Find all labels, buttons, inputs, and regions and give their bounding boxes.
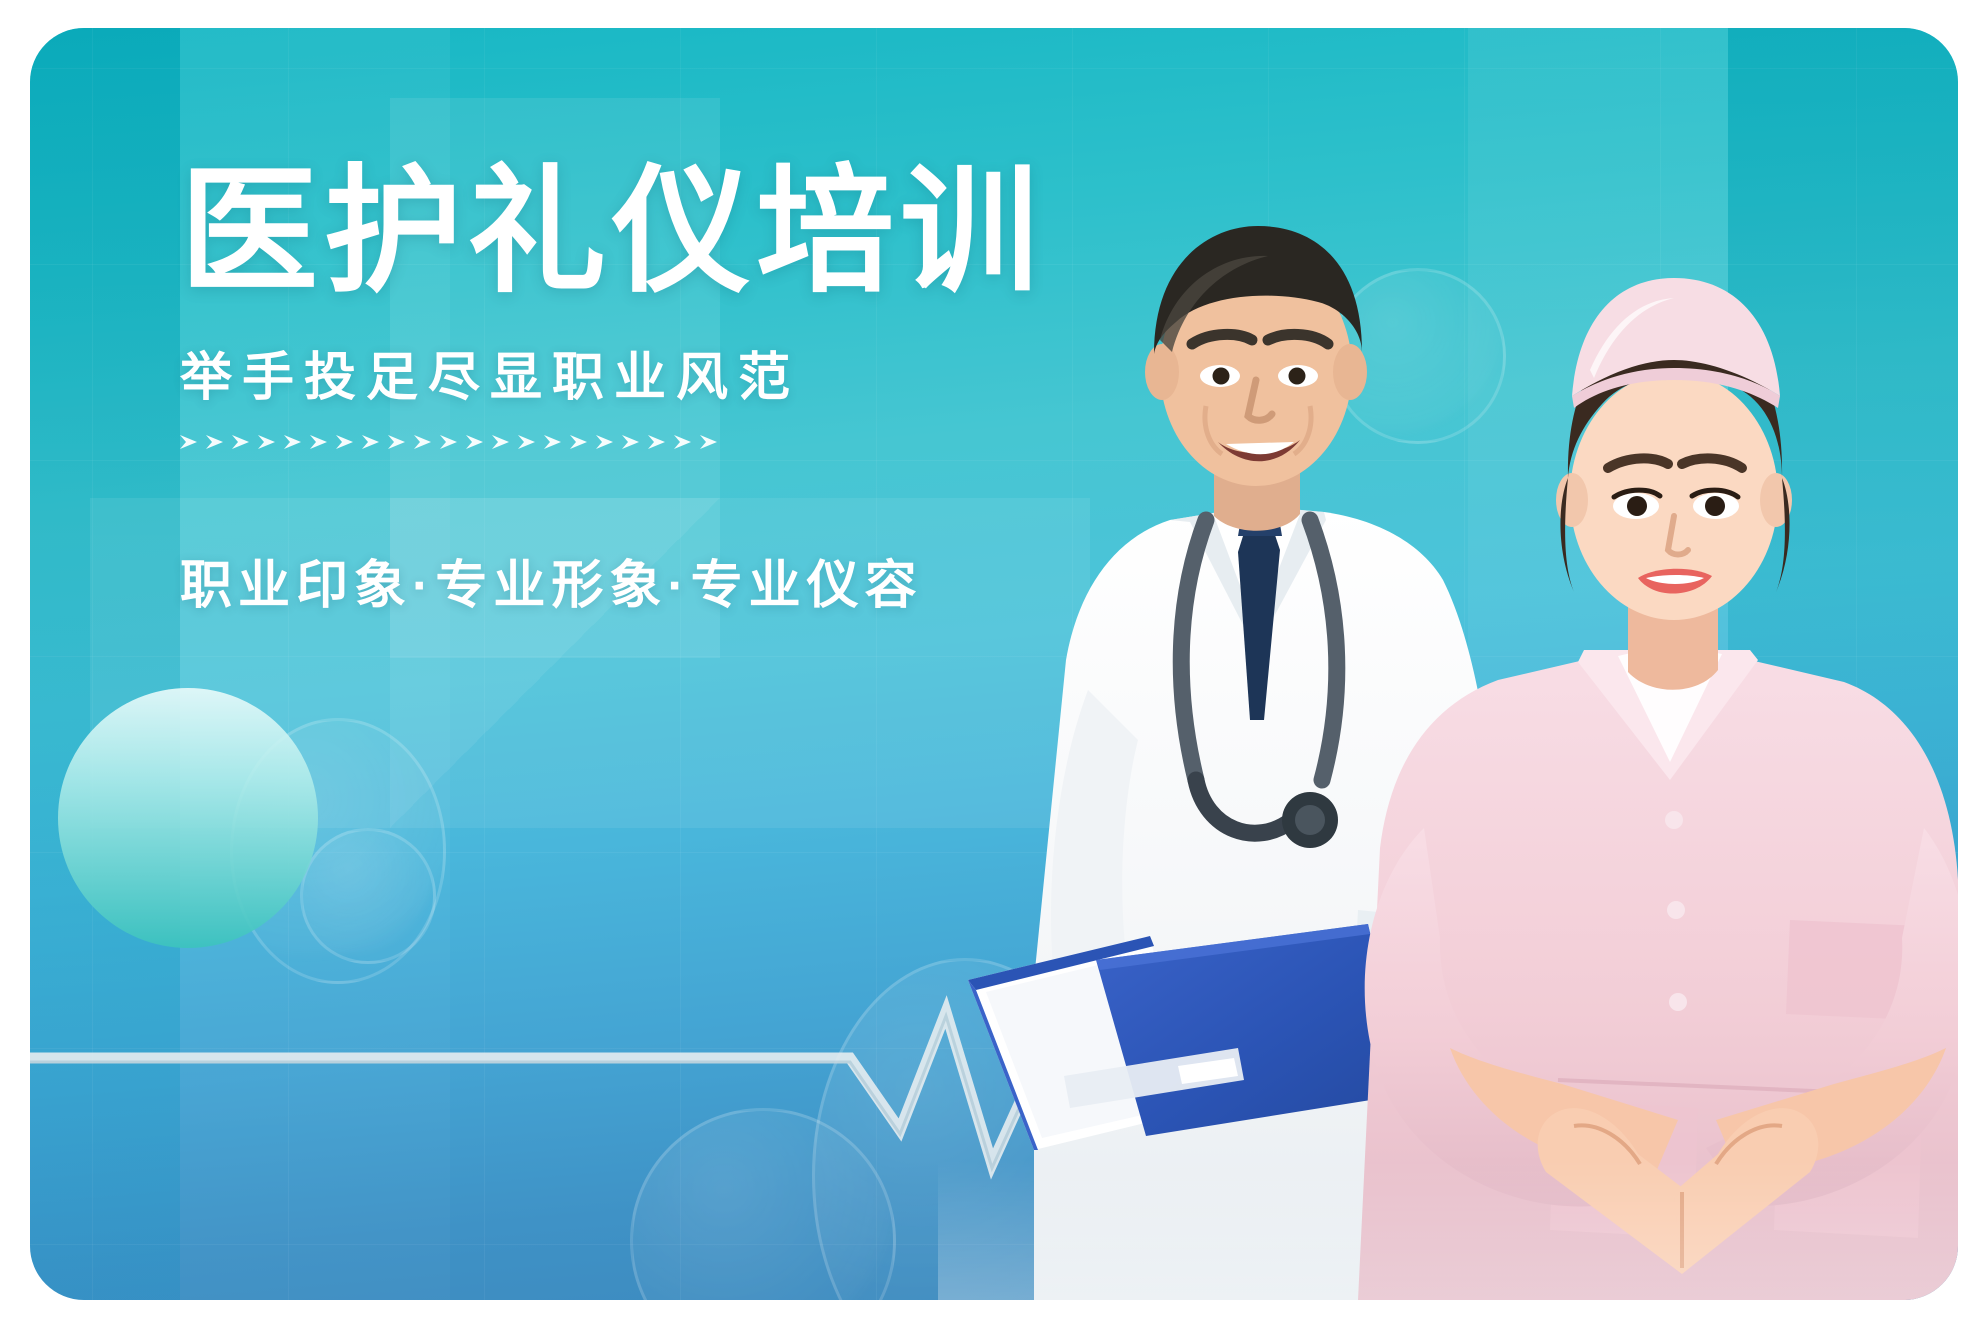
bokeh-bubble (1330, 268, 1506, 444)
page-subtitle: 举手投足尽显职业风范 (180, 335, 1180, 410)
decorative-orb-dark (1646, 992, 1896, 1242)
bokeh-bubble (1520, 1048, 1616, 1174)
bokeh-bubble (300, 828, 436, 964)
decorative-orb-light (58, 688, 318, 948)
page-title: 医护礼仪培训 (180, 158, 1180, 307)
headline-block: 医护礼仪培训 举手投足尽显职业风范 (180, 158, 1180, 618)
chevron-row-divider-icon (180, 432, 720, 454)
page-tagline: 职业印象·专业形象·专业仪容 (180, 543, 1180, 618)
banner-root: 医护礼仪培训 举手投足尽显职业风范 (0, 0, 1988, 1329)
poster-card: 医护礼仪培训 举手投足尽显职业风范 (30, 28, 1958, 1300)
